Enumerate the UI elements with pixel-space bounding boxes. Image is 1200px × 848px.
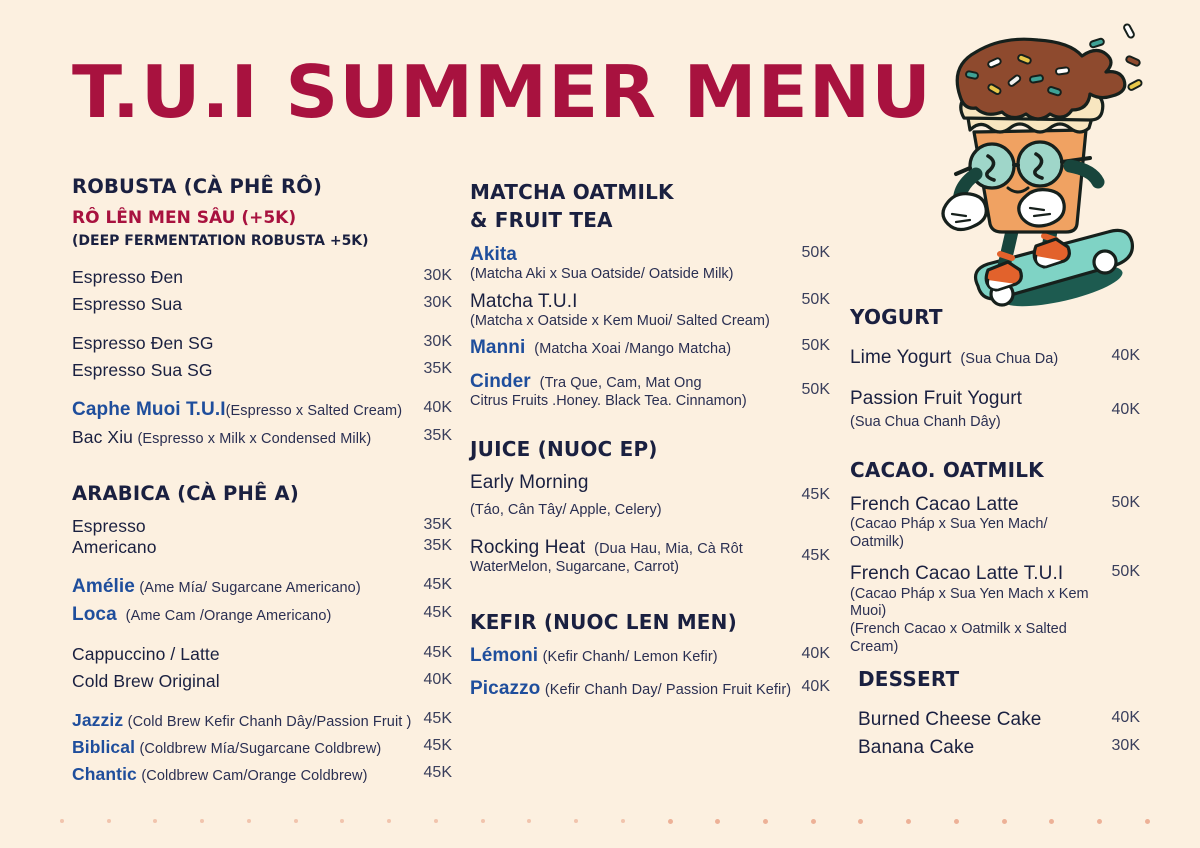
- page-title: T.U.I SUMMER MENU: [72, 56, 932, 128]
- menu-item-row[interactable]: Espresso 35K: [72, 516, 452, 537]
- menu-item-row[interactable]: Passion Fruit Yogurt (Sua Chua Chanh Dây…: [850, 387, 1140, 432]
- item-price: 30K: [416, 333, 452, 351]
- menu-item-row[interactable]: Cold Brew Original 40K: [72, 671, 452, 692]
- bottom-dot-decoration: [60, 816, 1150, 826]
- item-name: Amélie: [72, 576, 135, 597]
- decorative-dot: [247, 819, 251, 823]
- item-price: 35K: [416, 427, 452, 445]
- item-price: 35K: [416, 516, 452, 534]
- section-heading-matcha-line1: MATCHA OATMILK: [470, 180, 830, 204]
- decorative-dot: [668, 819, 673, 824]
- ice-cream-cup-skater-mascot: [930, 18, 1165, 318]
- item-description: (Kefir Chanh/ Lemon Kefir): [543, 649, 718, 665]
- item-description: (Ame Mía/ Sugarcane Americano): [139, 580, 360, 596]
- menu-item-row[interactable]: Chantic (Coldbrew Cam/Orange Coldbrew) 4…: [72, 764, 452, 785]
- item-description: (Sua Chua Da): [960, 351, 1058, 367]
- menu-item-row[interactable]: Rocking Heat (Dua Hau, Mia, Cà Rôt Water…: [470, 536, 830, 577]
- section-heading-yogurt: YOGURT: [850, 305, 1140, 329]
- menu-item-row[interactable]: Espresso Đen 30K: [72, 267, 452, 288]
- item-name: French Cacao Latte T.U.I: [850, 563, 1063, 584]
- decorative-dot: [763, 819, 768, 824]
- menu-item-row[interactable]: Biblical (Coldbrew Mía/Sugarcane Coldbre…: [72, 737, 452, 758]
- menu-item-row[interactable]: Banana Cake 30K: [850, 737, 1140, 759]
- decorative-dot: [811, 819, 816, 824]
- decorative-dot: [107, 819, 111, 823]
- item-price: 40K: [1104, 709, 1140, 727]
- decorative-dot: [340, 819, 344, 823]
- item-price: 45K: [416, 737, 452, 755]
- item-name: Chantic: [72, 764, 137, 784]
- item-description: (Sua Chua Chanh Dây): [850, 414, 1104, 432]
- menu-item-row[interactable]: Caphe Muoi T.U.I(Espresso x Salted Cream…: [72, 399, 452, 421]
- decorative-dot: [858, 819, 863, 824]
- item-description: (Matcha x Oatside x Kem Muoi/ Salted Cre…: [470, 313, 794, 331]
- item-description: (Coldbrew Cam/Orange Coldbrew): [141, 768, 367, 784]
- decorative-dot: [574, 819, 578, 823]
- decorative-dot: [387, 819, 391, 823]
- menu-item-row[interactable]: Espresso Đen SG 30K: [72, 333, 452, 354]
- item-price: 50K: [794, 380, 830, 400]
- column-robusta-arabica: ROBUSTA (CÀ PHÊ RÔ) RÔ LÊN MEN SÂU (+5K)…: [72, 175, 452, 785]
- item-description: (Coldbrew Mía/Sugarcane Coldbrew): [140, 741, 382, 757]
- item-name: Cinder: [470, 371, 531, 392]
- section-heading-arabica: ARABICA (CÀ PHÊ A): [72, 482, 452, 505]
- item-price: 45K: [794, 486, 830, 504]
- item-name: Americano: [72, 537, 157, 557]
- item-price: 45K: [416, 764, 452, 782]
- decorative-dot: [200, 819, 204, 823]
- decorative-dot: [434, 819, 438, 823]
- decorative-dot: [1097, 819, 1102, 824]
- item-price: 40K: [1104, 347, 1140, 365]
- item-description: (Kefir Chanh Day/ Passion Fruit Kefir): [545, 682, 791, 698]
- item-description: (Ame Cam /Orange Americano): [126, 608, 332, 624]
- item-name: Espresso Đen SG: [72, 333, 214, 353]
- decorative-dot: [481, 819, 485, 823]
- item-name: Picazzo: [470, 678, 540, 699]
- menu-item-row[interactable]: Burned Cheese Cake 40K: [850, 709, 1140, 731]
- item-description: (Dua Hau, Mia, Cà Rôt: [594, 541, 743, 557]
- item-name: Burned Cheese Cake: [858, 709, 1041, 730]
- menu-item-row[interactable]: Jazziz (Cold Brew Kefir Chanh Dây/Passio…: [72, 710, 452, 731]
- item-price: 50K: [794, 290, 830, 310]
- item-price: 30K: [416, 294, 452, 312]
- item-description: (Tra Que, Cam, Mat Ong: [540, 375, 702, 391]
- item-description: (Espresso x Milk x Condensed Milk): [137, 431, 371, 447]
- item-description: (Espresso x Salted Cream): [226, 403, 403, 419]
- item-name: Early Morning: [470, 472, 589, 493]
- section-heading-matcha-line2: & FRUIT TEA: [470, 208, 830, 232]
- menu-item-row[interactable]: Cinder (Tra Que, Cam, Mat Ong Citrus Fru…: [470, 370, 830, 411]
- item-price: 50K: [794, 337, 830, 355]
- item-price: 35K: [416, 537, 452, 555]
- item-description-line2: (French Cacao x Oatmilk x Salted Cream): [850, 621, 1104, 656]
- item-description-line2: WaterMelon, Sugarcane, Carrot): [470, 559, 794, 577]
- section-heading-kefir: KEFIR (NUOC LEN MEN): [470, 610, 830, 634]
- menu-item-row[interactable]: Americano 35K: [72, 537, 452, 558]
- item-name: Akita: [470, 244, 517, 265]
- item-name: Manni: [470, 337, 525, 358]
- item-name: Passion Fruit Yogurt: [850, 388, 1022, 409]
- decorative-dot: [60, 819, 64, 823]
- column-yogurt-cacao-dessert: YOGURT Lime Yogurt (Sua Chua Da) 40K Pas…: [850, 305, 1140, 759]
- item-name: Rocking Heat: [470, 537, 585, 558]
- menu-item-row[interactable]: Lémoni (Kefir Chanh/ Lemon Kefir) 40K: [470, 645, 830, 667]
- item-name: Cappuccino / Latte: [72, 644, 220, 664]
- item-name: Caphe Muoi T.U.I: [72, 399, 226, 420]
- decorative-dot: [1002, 819, 1007, 824]
- item-name: Lime Yogurt: [850, 347, 951, 368]
- section-heading-juice: JUICE (NUOC EP): [470, 437, 830, 461]
- item-name: Espresso: [72, 516, 146, 536]
- item-price: 30K: [1104, 737, 1140, 755]
- menu-item-row[interactable]: Amélie (Ame Mía/ Sugarcane Americano) 45…: [72, 576, 452, 598]
- item-name: French Cacao Latte: [850, 494, 1019, 515]
- decorative-dot: [153, 819, 157, 823]
- item-description: (Matcha Aki x Sua Oatside/ Oatside Milk): [470, 266, 794, 284]
- item-price: 40K: [416, 671, 452, 689]
- menu-item-row[interactable]: Cappuccino / Latte 45K: [72, 644, 452, 665]
- section-heading-dessert: DESSERT: [858, 667, 1140, 691]
- item-name: Bac Xiu: [72, 427, 133, 447]
- menu-item-row[interactable]: Matcha T.U.I (Matcha x Oatside x Kem Muo…: [470, 290, 830, 331]
- robusta-subheading-vi: RÔ LÊN MEN SÂU (+5K): [72, 208, 452, 228]
- section-heading-cacao: CACAO. OATMILK: [850, 458, 1140, 482]
- menu-item-row[interactable]: Espresso Sua SG 35K: [72, 360, 452, 381]
- decorative-dot: [294, 819, 298, 823]
- item-name: Espresso Sua SG: [72, 360, 213, 380]
- menu-item-row[interactable]: Loca (Ame Cam /Orange Americano) 45K: [72, 604, 452, 626]
- menu-item-row[interactable]: Picazzo (Kefir Chanh Day/ Passion Fruit …: [470, 678, 830, 700]
- decorative-dot: [1049, 819, 1054, 824]
- item-name: Espresso Sua: [72, 294, 182, 314]
- item-price: 40K: [416, 399, 452, 417]
- item-name: Espresso Đen: [72, 267, 183, 287]
- menu-item-row[interactable]: French Cacao Latte T.U.I (Cacao Pháp x S…: [850, 562, 1140, 656]
- item-name: Banana Cake: [858, 737, 974, 758]
- decorative-dot: [527, 819, 531, 823]
- item-price: 45K: [416, 604, 452, 622]
- menu-item-row[interactable]: Espresso Sua 30K: [72, 294, 452, 315]
- item-name: Matcha T.U.I: [470, 291, 578, 312]
- item-description: (Táo, Cân Tây/ Apple, Celery): [470, 502, 794, 518]
- item-price: 35K: [416, 360, 452, 378]
- item-price: 50K: [794, 243, 830, 263]
- item-description: (Cacao Pháp x Sua Yen Mach/ Oatmilk): [850, 516, 1104, 551]
- item-price: 45K: [416, 576, 452, 594]
- column-matcha-juice-kefir: MATCHA OATMILK & FRUIT TEA Akita (Matcha…: [470, 180, 830, 700]
- item-price: 40K: [794, 645, 830, 663]
- item-name: Cold Brew Original: [72, 671, 220, 691]
- menu-item-row[interactable]: Early Morning (Táo, Cân Tây/ Apple, Cele…: [470, 472, 830, 518]
- menu-item-row[interactable]: Lime Yogurt (Sua Chua Da) 40K: [850, 347, 1140, 369]
- item-price: 40K: [794, 678, 830, 696]
- section-heading-robusta: ROBUSTA (CÀ PHÊ RÔ): [72, 175, 452, 198]
- menu-item-row[interactable]: Akita (Matcha Aki x Sua Oatside/ Oatside…: [470, 243, 830, 284]
- decorative-dot: [954, 819, 959, 824]
- decorative-dot: [1145, 819, 1150, 824]
- decorative-dot: [715, 819, 720, 824]
- menu-page: T.U.I SUMMER MENU: [0, 0, 1200, 848]
- item-price: 45K: [416, 644, 452, 662]
- item-name: Biblical: [72, 737, 135, 757]
- item-price: 50K: [1104, 493, 1140, 513]
- item-price: 30K: [416, 267, 452, 285]
- item-name: Lémoni: [470, 645, 538, 666]
- item-price: 45K: [416, 710, 452, 728]
- item-price: 45K: [794, 546, 830, 566]
- item-description: (Matcha Xoai /Mango Matcha): [534, 341, 731, 357]
- item-description: (Cold Brew Kefir Chanh Dây/Passion Fruit…: [128, 714, 412, 730]
- decorative-dot: [621, 819, 625, 823]
- item-price: 40K: [1104, 400, 1140, 420]
- menu-item-row[interactable]: Bac Xiu (Espresso x Milk x Condensed Mil…: [72, 427, 452, 448]
- item-price: 50K: [1104, 562, 1140, 582]
- menu-item-row[interactable]: Manni (Matcha Xoai /Mango Matcha) 50K: [470, 337, 830, 359]
- menu-item-row[interactable]: French Cacao Latte (Cacao Pháp x Sua Yen…: [850, 493, 1140, 552]
- item-description-line2: Citrus Fruits .Honey. Black Tea. Cinnamo…: [470, 393, 794, 411]
- item-name: Loca: [72, 604, 117, 625]
- item-description: (Cacao Pháp x Sua Yen Mach x Kem Muoi): [850, 586, 1104, 621]
- decorative-dot: [906, 819, 911, 824]
- robusta-subheading-en: (DEEP FERMENTATION ROBUSTA +5K): [72, 233, 452, 249]
- item-name: Jazziz: [72, 710, 123, 730]
